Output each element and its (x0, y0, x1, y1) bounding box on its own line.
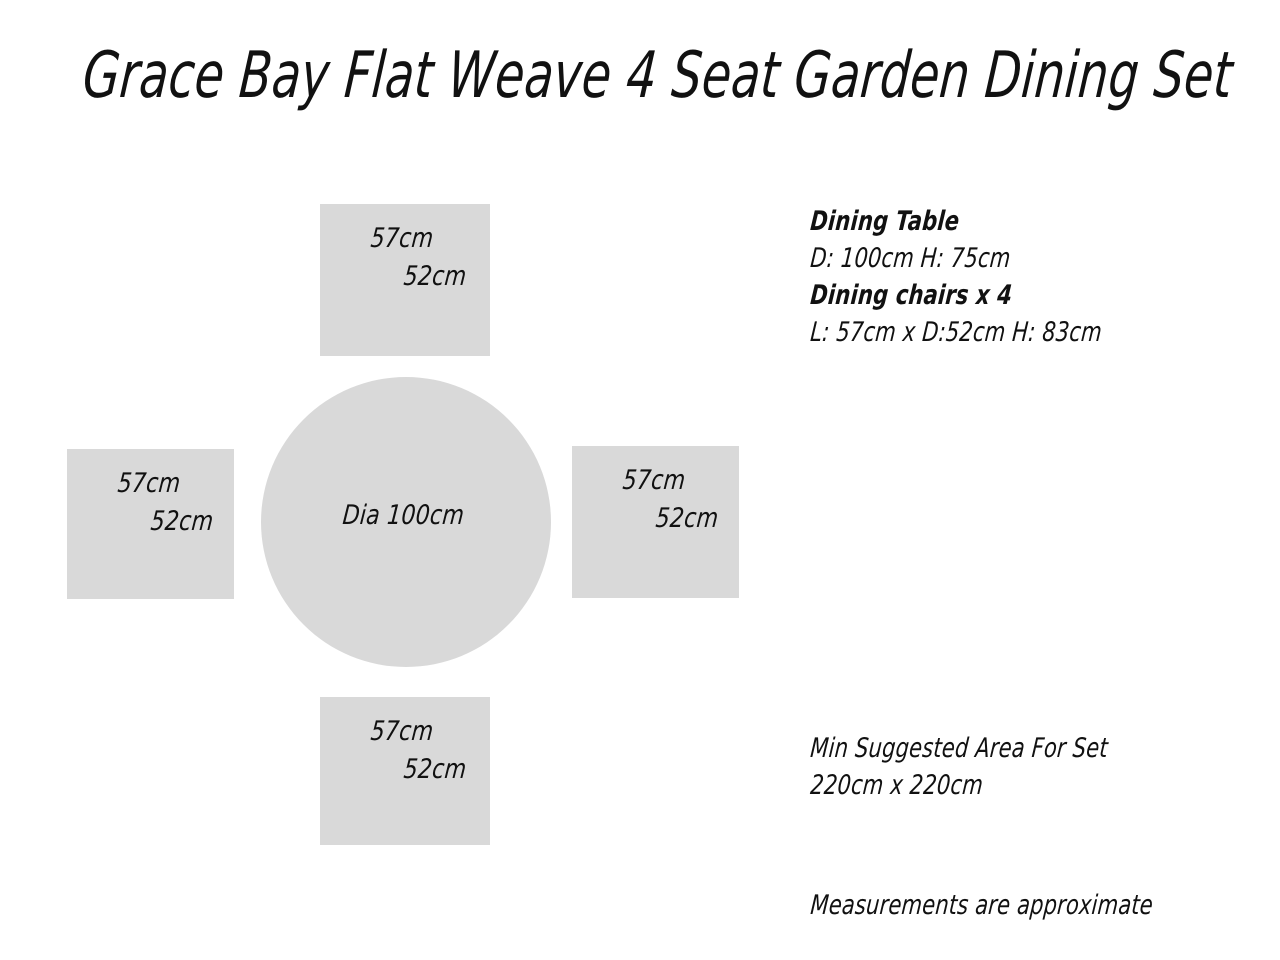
spec-chairs-dimensions: L: 57cm x D:52cm H: 83cm (809, 314, 1103, 351)
chair-bottom: 57cm 52cm (320, 697, 490, 845)
specs-area-block: Min Suggested Area For Set 220cm x 220cm (812, 730, 1193, 804)
specs-dimensions-block: Dining Table D: 100cm H: 75cm Dining cha… (812, 203, 1186, 351)
chair-right-depth-label: 52cm (654, 504, 719, 534)
spec-table-heading: Dining Table (809, 203, 1103, 240)
spec-area-value: 220cm x 220cm (809, 767, 1109, 804)
chair-top-width-label: 57cm (369, 224, 434, 254)
page-title: Grace Bay Flat Weave 4 Seat Garden Dinin… (80, 40, 1235, 112)
chair-right-width-label: 57cm (621, 466, 686, 496)
chair-bottom-width-label: 57cm (369, 717, 434, 747)
chair-top: 57cm 52cm (320, 204, 490, 356)
spec-area-heading: Min Suggested Area For Set (809, 730, 1109, 767)
spec-chairs-heading: Dining chairs x 4 (809, 277, 1103, 314)
spec-table-dimensions: D: 100cm H: 75cm (809, 240, 1103, 277)
table-diameter-label: Dia 100cm (341, 501, 465, 531)
chair-bottom-depth-label: 52cm (402, 755, 467, 785)
chair-right: 57cm 52cm (572, 446, 739, 598)
dining-table-shape: Dia 100cm (261, 377, 551, 667)
chair-top-depth-label: 52cm (402, 262, 467, 292)
chair-left-width-label: 57cm (116, 469, 181, 499)
chair-left-depth-label: 52cm (149, 507, 214, 537)
chair-left: 57cm 52cm (67, 449, 234, 599)
specs-disclaimer-block: Measurements are approximate (812, 888, 1251, 924)
spec-disclaimer-text: Measurements are approximate (809, 888, 1154, 924)
